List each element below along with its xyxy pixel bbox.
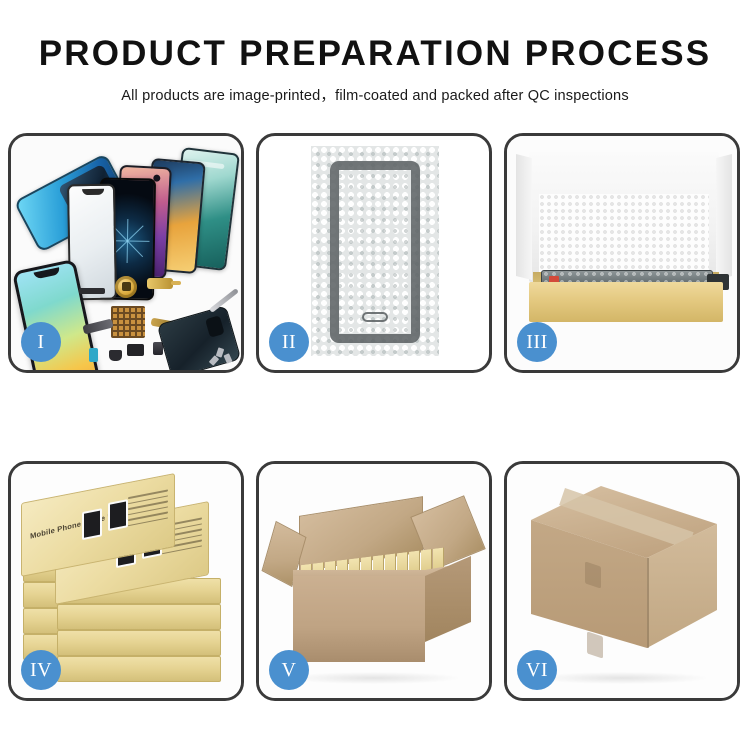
box-artwork-thumb (108, 499, 128, 531)
step-badge-4: IV (21, 650, 61, 690)
step-panel-2: II (256, 133, 492, 373)
page-header: PRODUCT PREPARATION PROCESS All products… (0, 0, 750, 105)
carton-corner-seam (647, 558, 649, 648)
bubble-wrap-sheet (311, 146, 439, 356)
spare-part-flex-cable (147, 278, 173, 289)
spare-part-sensor (89, 348, 98, 362)
step-panel-3: III (504, 133, 740, 373)
carton-front (293, 576, 425, 662)
foam-liner (539, 194, 709, 272)
step-panel-6: VI (504, 461, 740, 701)
page-subtitle: All products are image-printed，film-coat… (0, 84, 750, 105)
box-artwork-thumb (82, 508, 102, 540)
home-button-outline (362, 312, 388, 322)
step-badge-2: II (269, 322, 309, 362)
product-preparation-page: PRODUCT PREPARATION PROCESS All products… (0, 0, 750, 750)
spare-part-bar (79, 288, 105, 294)
process-steps-grid: I II (8, 133, 742, 701)
carton-shadow (537, 672, 707, 684)
step-panel-4: Mobile Phone Spare Parts Mobile Phone Sp… (8, 461, 244, 701)
spare-part-speaker (109, 350, 122, 361)
step-badge-5: V (269, 650, 309, 690)
kraft-tray-front (529, 282, 723, 322)
spare-part-connector-grid (111, 306, 145, 338)
spare-part-module (127, 344, 144, 356)
step-badge-6: VI (517, 650, 557, 690)
step-panel-5: V (256, 461, 492, 701)
step-panel-1: I (8, 133, 244, 373)
retail-box-edge (57, 656, 221, 682)
retail-box-edge (57, 604, 221, 630)
box-spec-lines (128, 489, 168, 537)
retail-box-edge (57, 630, 221, 656)
step-badge-3: III (517, 322, 557, 362)
page-title: PRODUCT PREPARATION PROCESS (0, 36, 750, 73)
wrapped-phone-screen (330, 161, 420, 343)
spare-part-coil (115, 276, 137, 298)
step-badge-1: I (21, 322, 61, 362)
carton-shadow (289, 672, 459, 684)
